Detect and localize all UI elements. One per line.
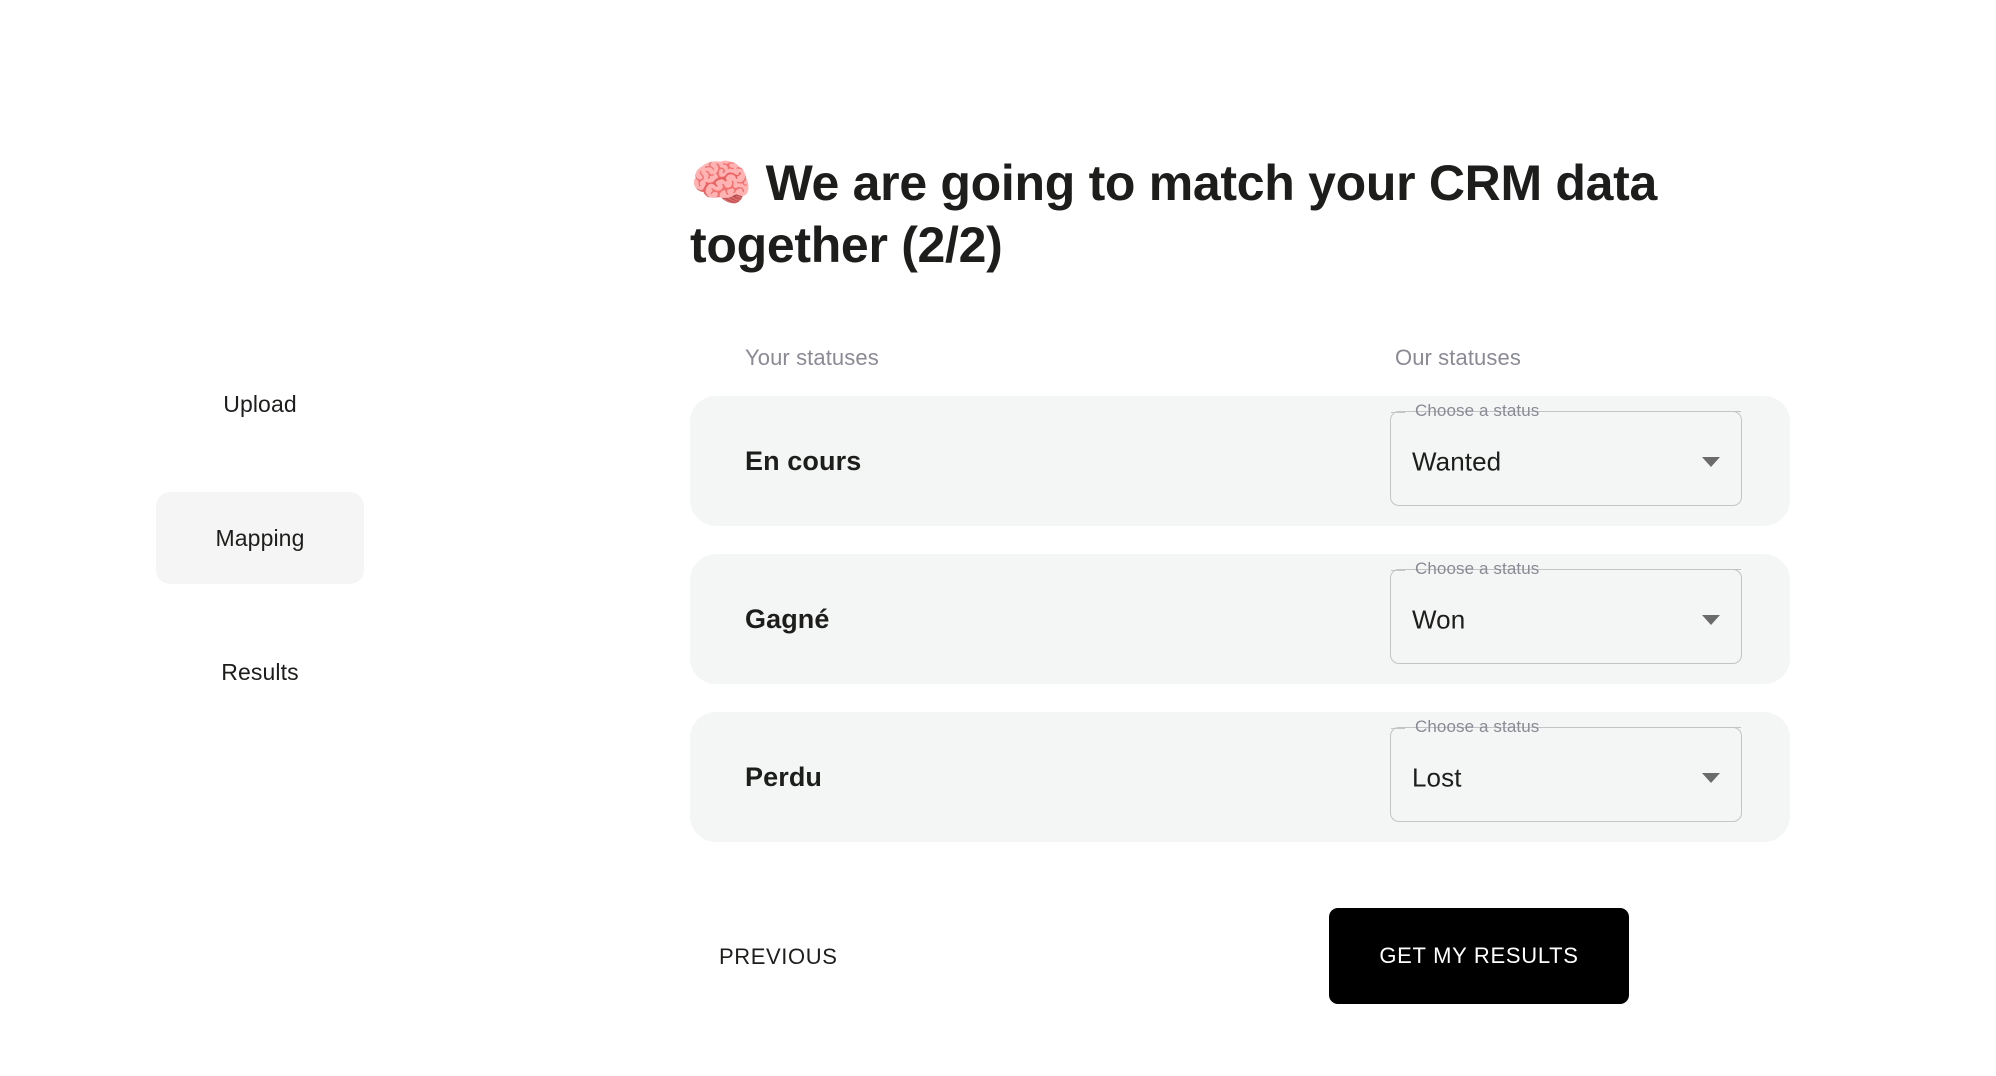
- select-label: Choose a status: [1410, 717, 1544, 737]
- select-value: Lost: [1412, 763, 1462, 794]
- table-row: En cours Choose a status Choose a status…: [690, 396, 1790, 526]
- column-headers: Your statuses Our statuses: [690, 345, 1820, 375]
- select-outline-trail: [1540, 411, 1741, 412]
- select-outline-trail: [1540, 727, 1741, 728]
- status-select-wrapper: Choose a status Choose a status Lost: [1390, 734, 1742, 822]
- chevron-down-icon[interactable]: [1702, 773, 1720, 783]
- select-label: Choose a status: [1410, 401, 1544, 421]
- form-actions: PREVIOUS GET MY RESULTS: [690, 908, 1820, 1004]
- column-header-your-statuses: Your statuses: [745, 345, 879, 371]
- select-value: Won: [1412, 605, 1465, 636]
- stepper-item-results[interactable]: Results: [156, 626, 364, 718]
- page-title-text: We are going to match your CRM data toge…: [690, 155, 1657, 273]
- brain-icon: 🧠: [690, 154, 752, 212]
- stepper-item-label: Upload: [223, 391, 297, 418]
- status-select-wrapper: Choose a status Choose a status Wanted: [1390, 418, 1742, 506]
- source-status-label: Gagné: [745, 604, 830, 635]
- stepper-item-label: Results: [221, 659, 298, 686]
- stepper-sidebar: Upload Mapping Results: [0, 0, 520, 1076]
- mapping-rows: En cours Choose a status Choose a status…: [690, 396, 1820, 870]
- status-select[interactable]: Choose a status Choose a status Lost: [1390, 734, 1742, 822]
- stepper-item-upload[interactable]: Upload: [156, 358, 364, 450]
- stepper-item-label: Mapping: [216, 525, 305, 552]
- column-header-our-statuses: Our statuses: [1395, 345, 1521, 371]
- select-value: Wanted: [1412, 447, 1501, 478]
- source-status-label: En cours: [745, 446, 861, 477]
- select-outline-trail: [1540, 569, 1741, 570]
- page-title: 🧠 We are going to match your CRM data to…: [690, 152, 1720, 276]
- select-label: Choose a status: [1410, 559, 1544, 579]
- chevron-down-icon[interactable]: [1702, 615, 1720, 625]
- chevron-down-icon[interactable]: [1702, 457, 1720, 467]
- previous-button[interactable]: PREVIOUS: [705, 932, 852, 982]
- stepper-item-mapping[interactable]: Mapping: [156, 492, 364, 584]
- status-select-wrapper: Choose a status Choose a status Won: [1390, 576, 1742, 664]
- select-outline-lead: [1391, 412, 1405, 505]
- table-row: Gagné Choose a status Choose a status Wo…: [690, 554, 1790, 684]
- source-status-label: Perdu: [745, 762, 822, 793]
- status-select[interactable]: Choose a status Choose a status Won: [1390, 576, 1742, 664]
- select-outline-lead: [1391, 570, 1405, 663]
- status-select[interactable]: Choose a status Choose a status Wanted: [1390, 418, 1742, 506]
- main-content: 🧠 We are going to match your CRM data to…: [690, 0, 1820, 1076]
- get-my-results-button[interactable]: GET MY RESULTS: [1329, 908, 1629, 1004]
- table-row: Perdu Choose a status Choose a status Lo…: [690, 712, 1790, 842]
- select-outline-lead: [1391, 728, 1405, 821]
- mapping-page: Upload Mapping Results 🧠 We are going to…: [0, 0, 1996, 1076]
